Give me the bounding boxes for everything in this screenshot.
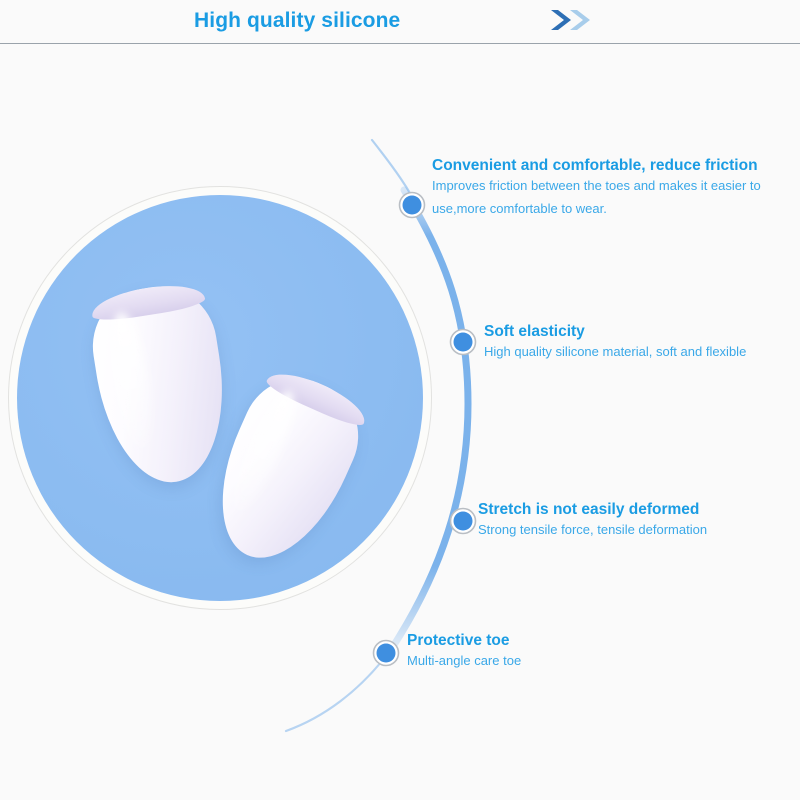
silicone-toe-cap-left <box>84 279 237 492</box>
feature-block-convenient-and-comfortable: Convenient and comfortable, reduce frict… <box>432 156 784 220</box>
header-bar: High quality silicone <box>0 0 800 44</box>
feature-marker-4[interactable] <box>374 641 399 666</box>
feature-description-line: use,more comfortable to wear. <box>432 198 784 220</box>
feature-description-line: Multi-angle care toe <box>407 650 707 672</box>
feature-marker-2[interactable] <box>451 330 476 355</box>
page-title: High quality silicone <box>194 9 400 33</box>
toe-cap-rim <box>89 279 206 324</box>
product-image <box>8 186 438 616</box>
feature-block-protective-toe: Protective toe Multi-angle care toe <box>407 631 707 673</box>
feature-block-soft-elasticity: Soft elasticity High quality silicone ma… <box>484 322 794 364</box>
toe-cap-highlight <box>105 309 158 450</box>
infographic-page: High quality silicone <box>0 0 800 800</box>
product-circle-background <box>17 195 423 601</box>
curve-bottom-tail <box>286 648 392 731</box>
toe-cap-highlight <box>224 385 305 516</box>
feature-title: Protective toe <box>407 631 707 650</box>
feature-block-stretch-is-not-easily-deformed: Stretch is not easily deformed Strong te… <box>478 500 798 542</box>
header-divider <box>0 43 800 44</box>
feature-description-line: Improves friction between the toes and m… <box>432 175 784 197</box>
feature-description-line: Strong tensile force, tensile deformatio… <box>478 519 798 541</box>
double-chevron-right-icon <box>549 8 595 32</box>
feature-title: Soft elasticity <box>484 322 794 341</box>
feature-marker-3[interactable] <box>451 509 476 534</box>
feature-title: Stretch is not easily deformed <box>478 500 798 519</box>
feature-title: Convenient and comfortable, reduce frict… <box>432 156 784 175</box>
feature-description-line: High quality silicone material, soft and… <box>484 341 794 363</box>
